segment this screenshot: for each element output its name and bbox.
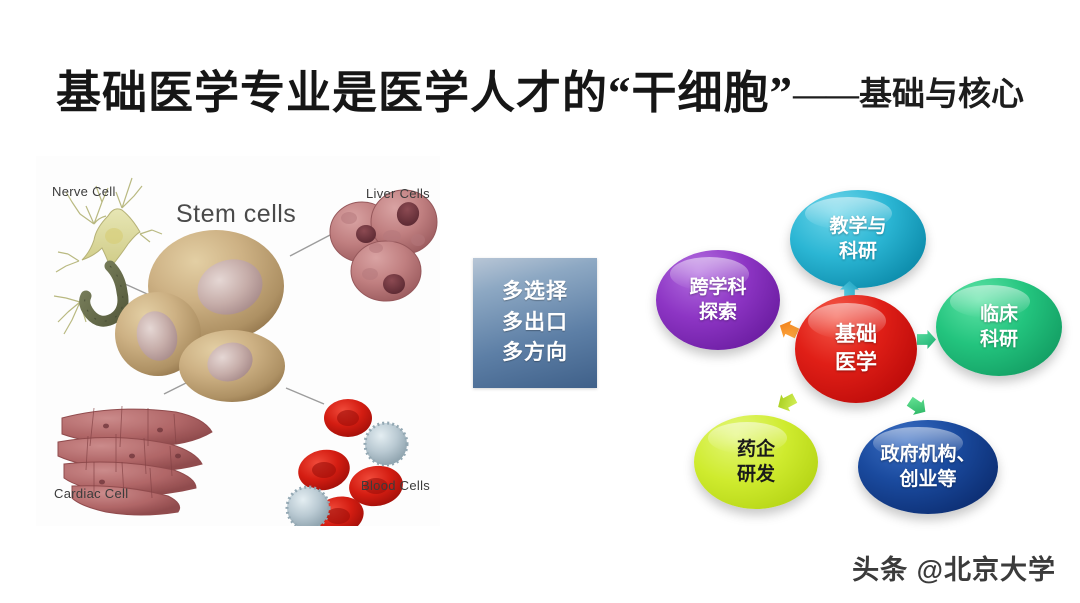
arrow-to-clinical-research-icon xyxy=(917,330,936,349)
slide-canvas: 基础医学专业是医学人才的“干细胞” ——基础与核心 xyxy=(0,0,1080,603)
bubble-teaching-research-line1: 教学与 xyxy=(829,214,886,239)
callout-line-3: 多方向 xyxy=(502,338,568,368)
arrow-to-government-startup-icon xyxy=(904,393,930,419)
watermark: 头条 @北京大学 xyxy=(852,548,1056,587)
bubble-center-line2: 医学 xyxy=(835,349,877,377)
bubble-clinical-research-line2: 科研 xyxy=(980,327,1018,352)
arrow-to-pharma-rnd-icon xyxy=(774,390,800,416)
bubble-teaching-research[interactable]: 教学与 科研 xyxy=(790,190,926,288)
callout-line-1: 多选择 xyxy=(502,277,568,307)
bubble-government-startup-line1: 政府机构、 xyxy=(880,442,975,467)
bubble-interdisciplinary[interactable]: 跨学科 探索 xyxy=(656,250,780,350)
bubble-government-startup-line2: 创业等 xyxy=(899,467,956,492)
bubble-interdisciplinary-line2: 探索 xyxy=(699,300,737,325)
bubble-pharma-rnd[interactable]: 药企 研发 xyxy=(694,415,818,509)
bubble-pharma-rnd-line2: 研发 xyxy=(737,462,775,487)
title-subtitle-text: ——基础与核心 xyxy=(793,67,1024,115)
label-liver-cells: Liver Cells xyxy=(366,186,430,201)
label-blood-cells: Blood Cells xyxy=(361,478,430,493)
title-main-text: 基础医学专业是医学人才的“干细胞” xyxy=(56,56,793,121)
liver-cells-art xyxy=(330,190,437,301)
bubble-clinical-research[interactable]: 临床 科研 xyxy=(936,278,1062,376)
callout-line-2: 多出口 xyxy=(502,308,568,338)
blood-cells-art xyxy=(287,399,407,526)
stem-cells-heading: Stem cells xyxy=(176,200,296,229)
stem-cell-illustration: Stem cells Nerve Cell Liver Cells Cardia… xyxy=(36,156,440,526)
bubble-center-line1: 基础 xyxy=(835,321,877,349)
stem-cells-art xyxy=(115,230,285,402)
page-title: 基础医学专业是医学人才的“干细胞” ——基础与核心 xyxy=(0,52,1080,124)
callout-box: 多选择 多出口 多方向 xyxy=(473,258,597,388)
bubble-clinical-research-line1: 临床 xyxy=(980,302,1018,327)
label-nerve-cell: Nerve Cell xyxy=(52,184,116,199)
bubble-teaching-research-line2: 科研 xyxy=(839,239,877,264)
career-path-bubble-diagram: 教学与 科研 跨学科 探索 临床 科研 药企 研发 政府机构、 创业等 基础 医… xyxy=(640,168,1080,526)
bubble-government-startup[interactable]: 政府机构、 创业等 xyxy=(858,420,998,514)
bubble-interdisciplinary-line1: 跨学科 xyxy=(689,275,746,300)
bubble-pharma-rnd-line1: 药企 xyxy=(737,437,775,462)
label-cardiac-cell: Cardiac Cell xyxy=(54,486,128,501)
bubble-center-basic-medicine[interactable]: 基础 医学 xyxy=(795,295,917,403)
